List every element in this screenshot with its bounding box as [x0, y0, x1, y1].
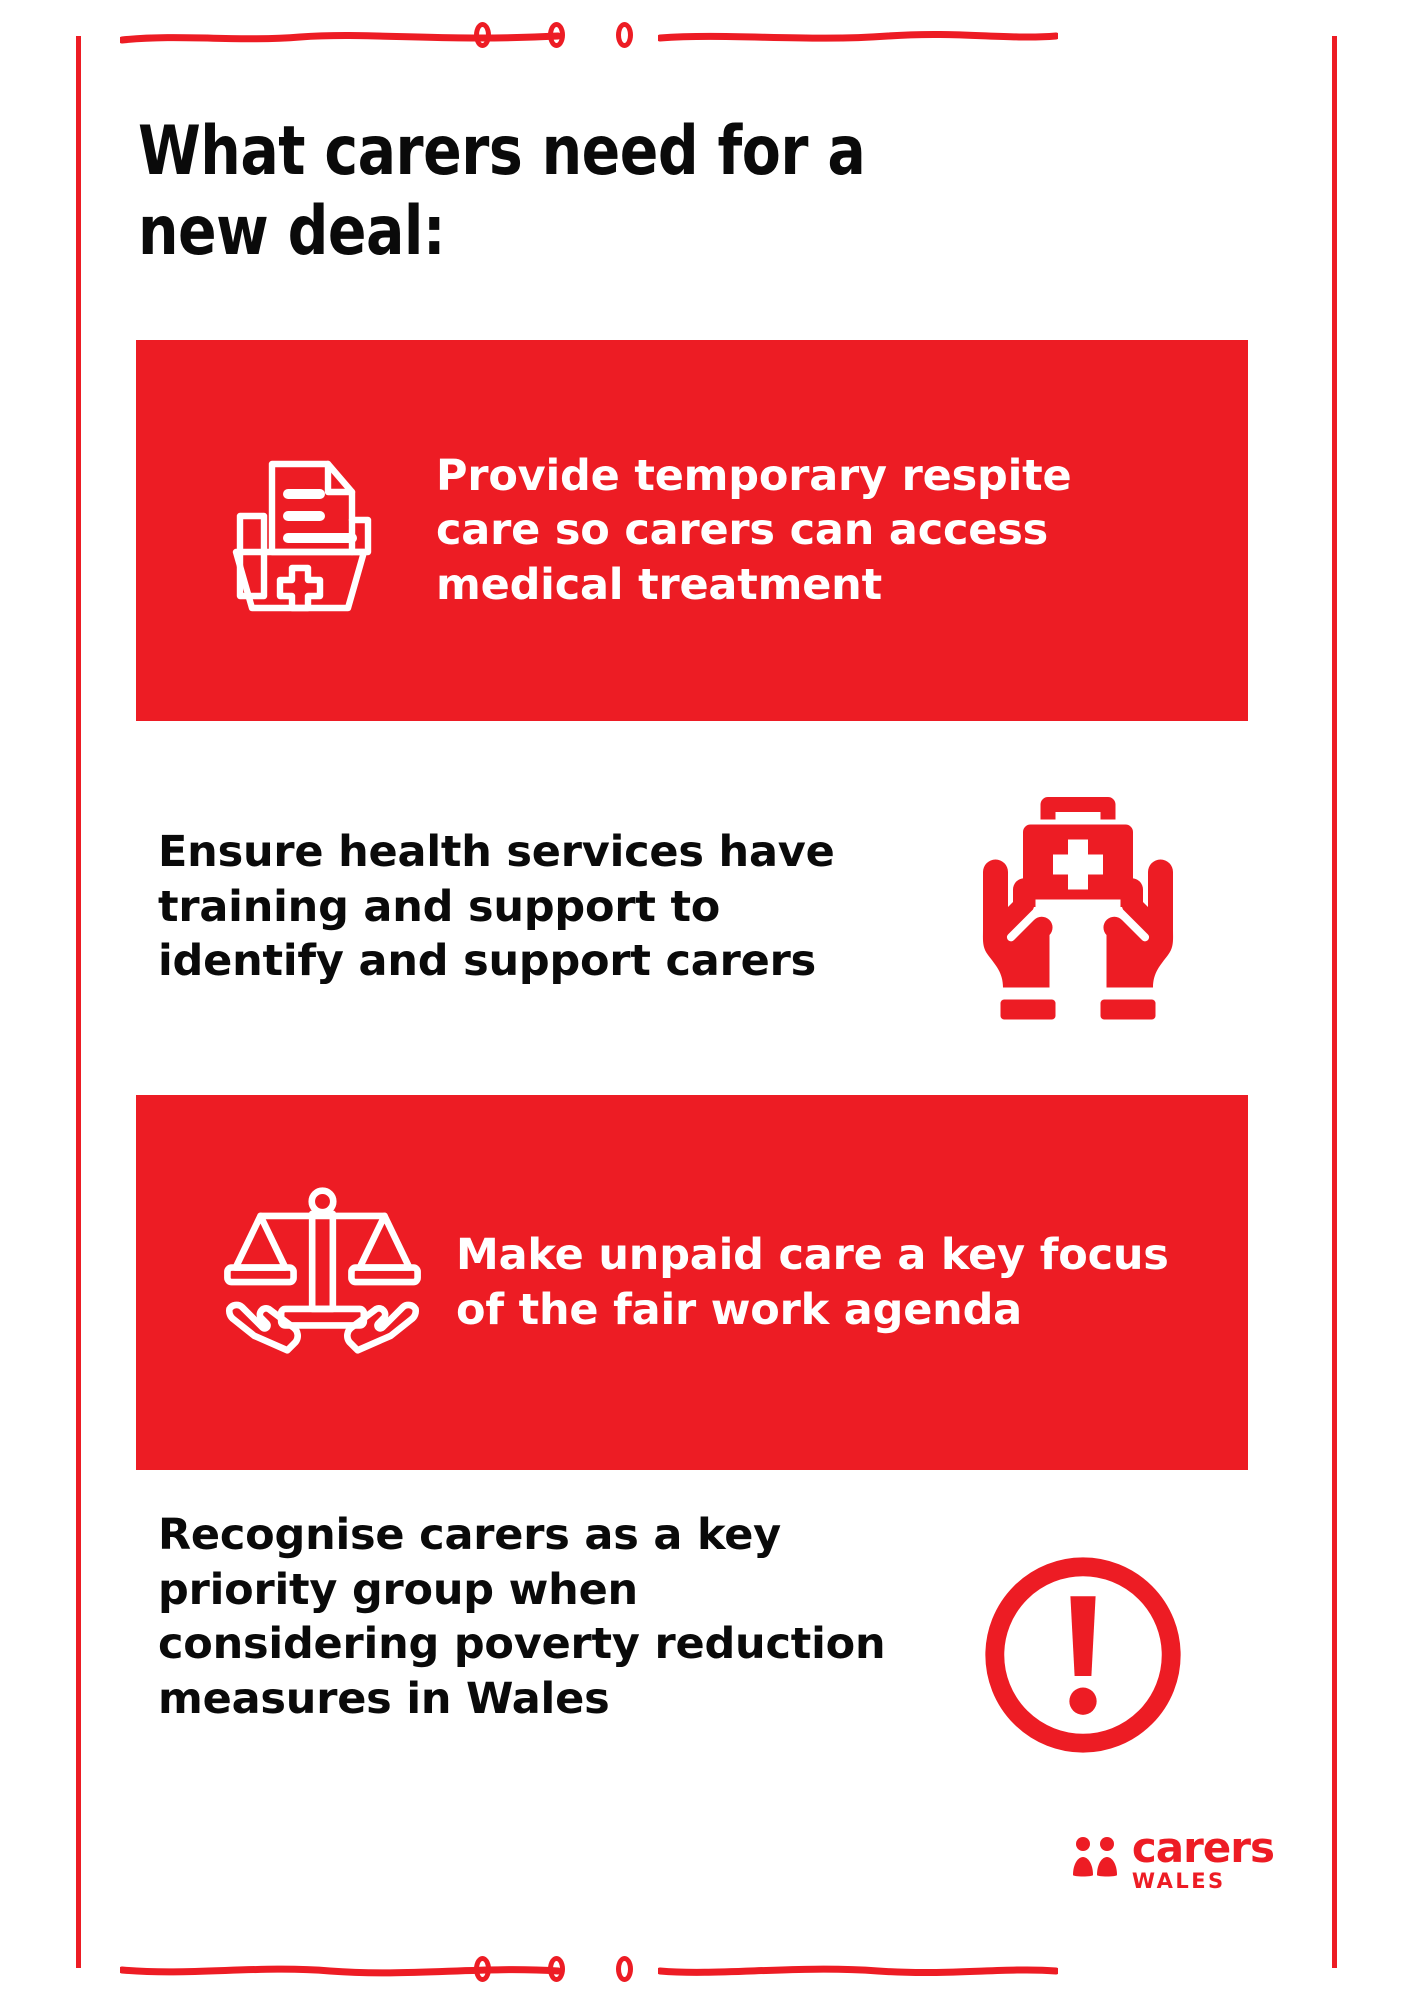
- bottom-left-sketch-line: [120, 1962, 560, 1976]
- top-dot-3: [616, 22, 633, 48]
- scales-of-justice-in-hands-icon: [215, 1180, 430, 1385]
- carers-wales-people-mark-icon: [1070, 1835, 1122, 1884]
- poster-root: What carers need for a new deal:: [0, 0, 1414, 2000]
- first-aid-kit-in-hands-icon: [953, 787, 1203, 1027]
- frame-right-line: [1332, 36, 1337, 1968]
- top-right-sketch-line: [658, 30, 1058, 44]
- panel-1-icon-cell: [136, 428, 436, 633]
- exclamation-mark-circle-icon: [978, 1550, 1188, 1765]
- logo-wordmark: carers: [1132, 1827, 1274, 1869]
- panel-2-icon-cell: [908, 787, 1248, 1027]
- panel-4-text: Recognise carers as a key priority group…: [136, 1490, 918, 1726]
- panel-2-text: Ensure health services have training and…: [136, 825, 908, 989]
- top-left-sketch-line: [120, 30, 560, 44]
- page-title-line-1: What carers need for a: [138, 112, 956, 192]
- page-title-line-2: new deal:: [138, 192, 956, 272]
- panel-3-icon-cell: [136, 1180, 456, 1385]
- panel-3: Make unpaid care a key focus of the fair…: [136, 1095, 1248, 1470]
- medical-folder-icon: [212, 428, 412, 633]
- panel-1-text: Provide temporary respite care so carers…: [436, 449, 1248, 613]
- bottom-right-sketch-line: [658, 1962, 1058, 1976]
- logo-region: WALES: [1132, 1871, 1226, 1892]
- bottom-dot-3: [616, 1956, 633, 1982]
- page-title: What carers need for a new deal:: [138, 112, 956, 272]
- carers-wales-logo: carers WALES: [1070, 1827, 1274, 1892]
- bottom-dot-2: [548, 1956, 565, 1982]
- top-dot-1: [474, 22, 491, 48]
- frame-left-line: [76, 36, 81, 1968]
- top-dot-2: [548, 22, 565, 48]
- panel-2: Ensure health services have training and…: [136, 742, 1248, 1072]
- logo-text-block: carers WALES: [1132, 1827, 1274, 1892]
- panel-3-text: Make unpaid care a key focus of the fair…: [456, 1228, 1248, 1337]
- panel-4-icon-cell: [918, 1490, 1248, 1765]
- bottom-dot-1: [474, 1956, 491, 1982]
- panel-1: Provide temporary respite care so carers…: [136, 340, 1248, 721]
